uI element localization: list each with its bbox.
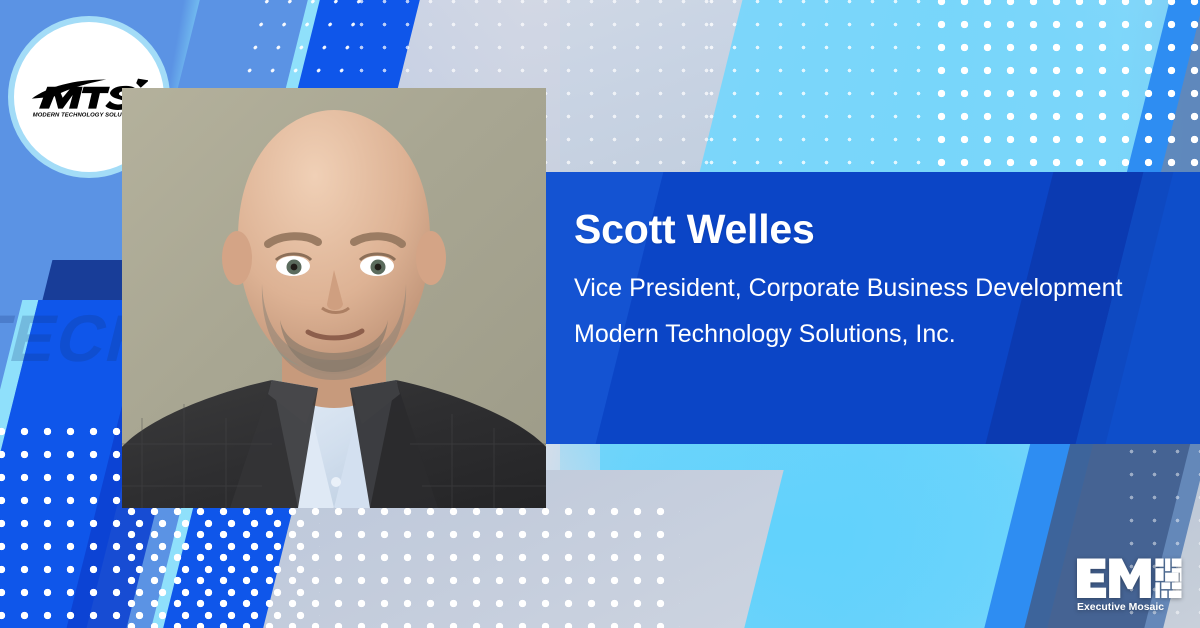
dot-pattern-top-center xyxy=(700,0,950,190)
dot-pattern-bottom-grey xyxy=(120,500,680,628)
person-name: Scott Welles xyxy=(574,208,1122,251)
executive-mosaic-logo: Executive Mosaic xyxy=(1074,554,1186,614)
person-company: Modern Technology Solutions, Inc. xyxy=(574,319,1122,349)
dot-pattern-top-right xyxy=(930,0,1200,190)
person-job-title: Vice President, Corporate Business Devel… xyxy=(574,273,1122,303)
person-info-banner: Scott Welles Vice President, Corporate B… xyxy=(546,172,1200,444)
executive-mosaic-logo-icon: Executive Mosaic xyxy=(1074,554,1186,614)
spotlight-graphic: TECHNOLOGY MODERN TECHN xyxy=(0,0,1200,628)
executive-mosaic-wordmark: Executive Mosaic xyxy=(1077,602,1164,613)
portrait-photo xyxy=(122,88,546,508)
banner-text-block: Scott Welles Vice President, Corporate B… xyxy=(574,208,1122,349)
